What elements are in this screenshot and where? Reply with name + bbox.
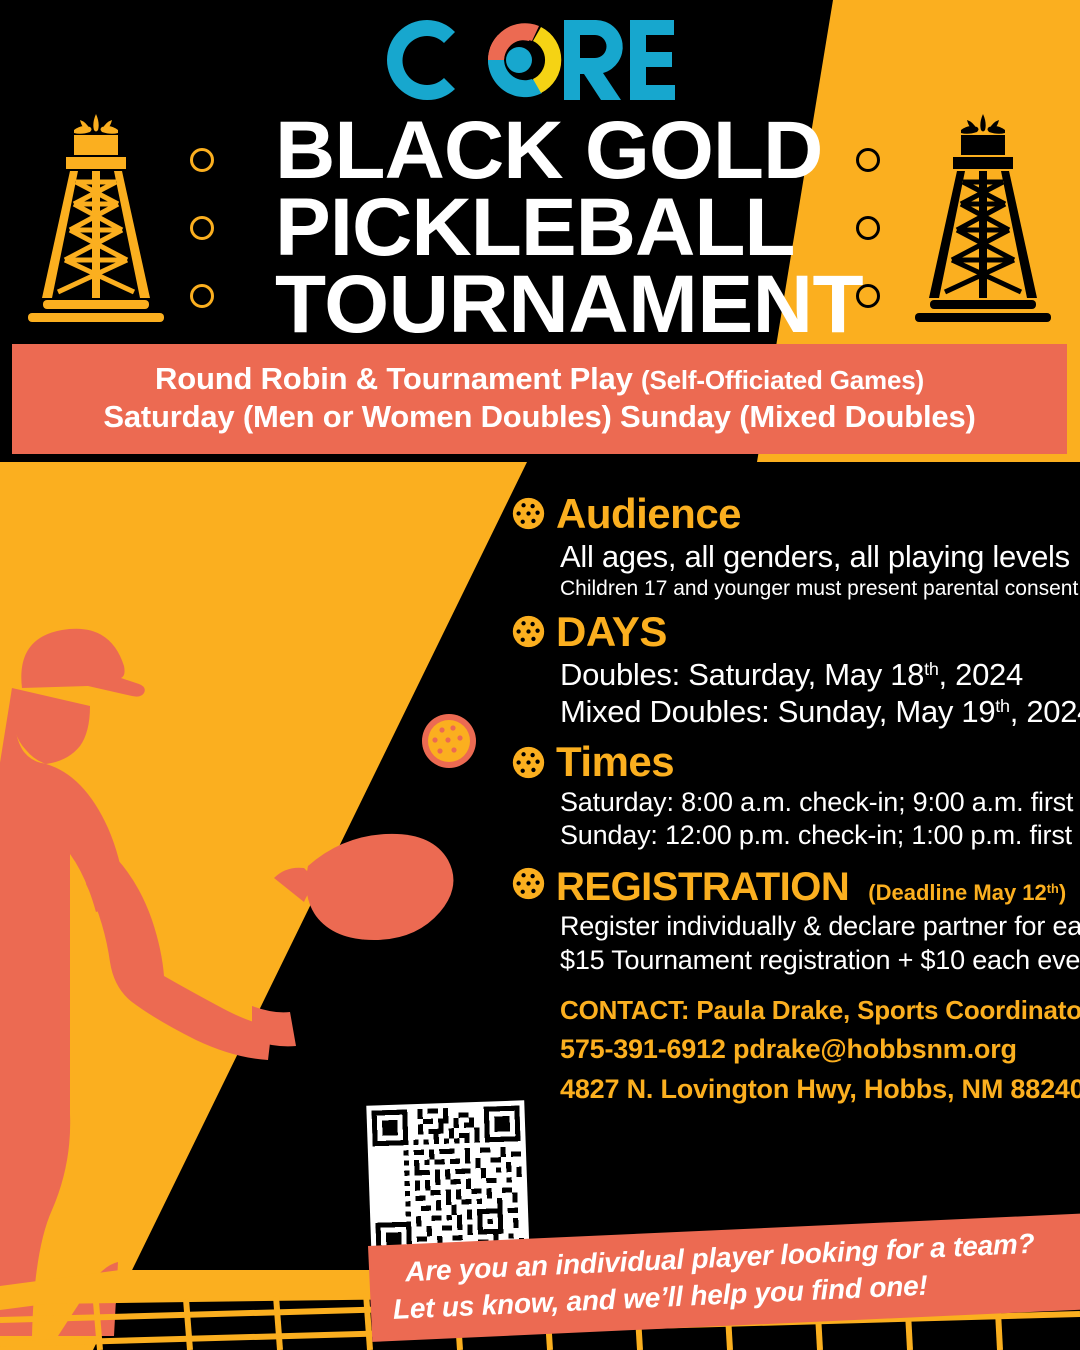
details-column: Audience All ages, all genders, all play… xyxy=(512,492,1074,1110)
circle-dot-icon xyxy=(190,216,214,240)
contact-address: 4827 N. Lovington Hwy, Hobbs, NM 88240 xyxy=(560,1070,1074,1110)
pickleball-icon xyxy=(512,497,545,530)
circle-dot-icon xyxy=(856,216,880,240)
pickleball-player-silhouette xyxy=(0,596,414,1336)
pickleball-paddle-icon xyxy=(268,820,458,940)
poster-canvas: BLACK GOLD PICKLEBALL TOURNAMENT Round R… xyxy=(0,0,1080,1350)
contact-phone-email[interactable]: 575-391-6912 pdrake@hobbsnm.org xyxy=(560,1030,1074,1070)
format-banner-line-2: Saturday (Men or Women Doubles) Sunday (… xyxy=(103,398,975,436)
days-line-2: Mixed Doubles: Sunday, May 19th, 2024 xyxy=(560,693,1074,730)
pickleball-icon xyxy=(512,746,545,779)
title-line-2: PICKLEBALL xyxy=(275,189,846,266)
section-times-body: Saturday: 8:00 a.m. check-in; 9:00 a.m. … xyxy=(512,786,1074,853)
times-line-1: Saturday: 8:00 a.m. check-in; 9:00 a.m. … xyxy=(560,786,1074,819)
title-line-1: BLACK GOLD xyxy=(275,112,846,189)
pickleball-ball-floating xyxy=(420,712,478,770)
registration-deadline: (Deadline May 12th) xyxy=(868,880,1066,906)
days-line-1: Doubles: Saturday, May 18th, 2024 xyxy=(560,656,1074,693)
section-registration: REGISTRATION (Deadline May 12th) Registe… xyxy=(512,867,1074,978)
contact-label: CONTACT: Paula Drake, Sports Coordinator xyxy=(560,991,1074,1029)
section-registration-body: Register individually & declare partner … xyxy=(512,910,1074,977)
section-registration-title: REGISTRATION xyxy=(556,867,849,909)
section-registration-header: REGISTRATION (Deadline May 12th) xyxy=(512,867,1074,909)
section-times-header: Times xyxy=(512,740,1074,784)
oil-derrick-icon-right xyxy=(905,110,1065,332)
section-days-header: DAYS xyxy=(512,610,1074,654)
section-audience: Audience All ages, all genders, all play… xyxy=(512,492,1074,602)
times-line-2: Sunday: 12:00 p.m. check-in; 1:00 p.m. f… xyxy=(560,819,1074,852)
section-audience-title: Audience xyxy=(556,492,741,536)
section-days: DAYS Doubles: Saturday, May 18th, 2024 M… xyxy=(512,610,1074,730)
format-banner-line-1: Round Robin & Tournament Play (Self-Offi… xyxy=(155,360,924,398)
audience-line-2: Children 17 and younger must present par… xyxy=(560,575,1074,602)
circle-dot-icon xyxy=(190,284,214,308)
section-days-title: DAYS xyxy=(556,610,667,654)
circle-dot-icon xyxy=(856,148,880,172)
core-logo xyxy=(378,14,678,106)
page-title: BLACK GOLD PICKLEBALL TOURNAMENT xyxy=(275,112,835,343)
registration-line-1: Register individually & declare partner … xyxy=(560,910,1074,943)
pickleball-icon xyxy=(512,867,545,900)
dot-column-left xyxy=(190,148,214,308)
pickleball-icon xyxy=(512,615,545,648)
section-days-body: Doubles: Saturday, May 18th, 2024 Mixed … xyxy=(512,656,1074,730)
oil-derrick-icon-left xyxy=(18,110,178,332)
section-times-title: Times xyxy=(556,740,674,784)
section-audience-body: All ages, all genders, all playing level… xyxy=(512,538,1074,602)
section-audience-header: Audience xyxy=(512,492,1074,536)
circle-dot-icon xyxy=(190,148,214,172)
contact-block: CONTACT: Paula Drake, Sports Coordinator… xyxy=(512,991,1074,1109)
audience-line-1: All ages, all genders, all playing level… xyxy=(560,538,1074,575)
section-times: Times Saturday: 8:00 a.m. check-in; 9:00… xyxy=(512,740,1074,853)
title-line-3: TOURNAMENT xyxy=(275,266,846,343)
format-banner: Round Robin & Tournament Play (Self-Offi… xyxy=(12,344,1067,454)
registration-line-2: $15 Tournament registration + $10 each e… xyxy=(560,944,1074,977)
